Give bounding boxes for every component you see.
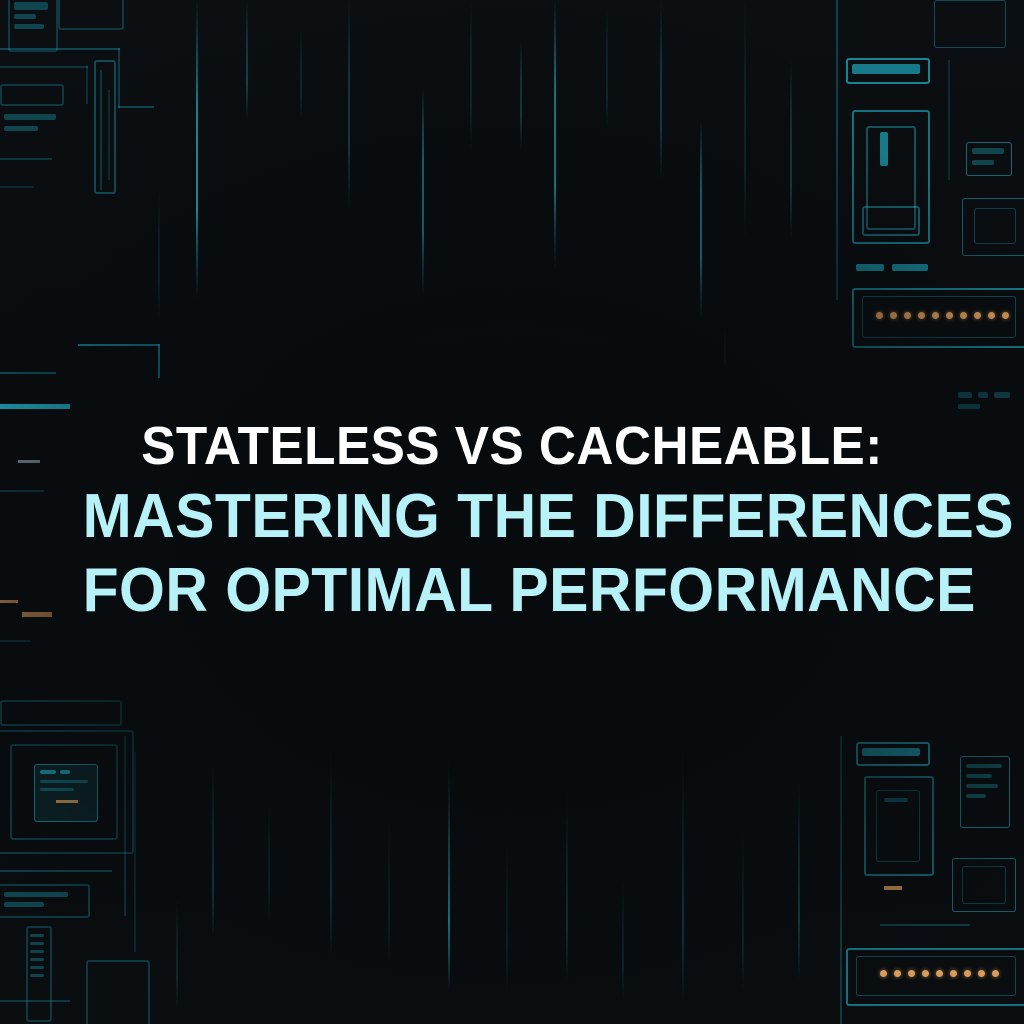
circuit-box <box>86 960 150 1024</box>
data-stream <box>742 830 744 990</box>
connector-pad <box>918 312 925 319</box>
data-stream <box>566 790 568 980</box>
circuit-chip <box>966 764 1002 768</box>
data-stream <box>606 10 608 130</box>
circuit-chip <box>966 794 986 798</box>
circuit-trace <box>118 106 154 108</box>
title-line-1: STATELESS VS CACHEABLE: <box>83 416 942 476</box>
connector-pad <box>908 970 915 977</box>
circuit-trace <box>880 924 970 926</box>
circuit-box <box>0 84 64 106</box>
circuit-chip <box>4 902 44 907</box>
connector-pad <box>946 312 953 319</box>
data-stream <box>744 0 746 240</box>
circuit-trace <box>0 404 70 409</box>
data-stream <box>422 88 424 298</box>
circuit-trace <box>0 1000 70 1002</box>
connector-pad <box>1002 312 1009 319</box>
circuit-trace <box>86 66 88 104</box>
connector-pad <box>904 312 911 319</box>
circuit-chip <box>30 934 44 937</box>
circuit-chip <box>856 264 884 271</box>
banner-canvas: STATELESS VS CACHEABLE: MASTERING THE DI… <box>0 0 1024 1024</box>
circuit-trace <box>78 344 160 346</box>
circuit-box <box>962 866 1006 904</box>
connector-pad <box>964 970 971 977</box>
data-stream <box>300 30 302 120</box>
connector-pad <box>978 970 985 977</box>
circuit-box <box>94 60 116 194</box>
title-line-2: MASTERING THE DIFFERENCES <box>83 482 942 551</box>
circuit-chip <box>14 14 36 19</box>
data-stream <box>348 0 350 210</box>
connector-strip-inner <box>856 956 1016 996</box>
circuit-chip <box>14 2 48 10</box>
data-stream <box>246 0 248 120</box>
data-stream <box>448 760 450 990</box>
circuit-trace <box>0 186 34 188</box>
connector-pad <box>932 312 939 319</box>
circuit-box <box>934 0 1006 48</box>
data-stream <box>790 60 792 240</box>
circuit-chip <box>30 974 44 977</box>
connector-pad <box>950 970 957 977</box>
connector-pad <box>974 312 981 319</box>
circuit-chip <box>978 392 988 398</box>
circuit-chip <box>972 160 994 165</box>
data-stream <box>660 0 662 180</box>
data-stream <box>176 900 178 1010</box>
circuit-chip <box>852 64 920 74</box>
data-stream <box>330 746 332 956</box>
circuit-chip <box>30 942 44 945</box>
circuit-chip <box>972 148 1004 154</box>
circuit-box <box>862 206 920 236</box>
data-stream <box>724 330 726 370</box>
connector-pad <box>960 312 967 319</box>
data-stream <box>798 780 800 980</box>
data-stream <box>506 840 508 990</box>
circuit-trace-amber <box>884 886 902 890</box>
connector-pad <box>922 970 929 977</box>
circuit-chip <box>966 784 998 788</box>
data-stream <box>554 0 556 270</box>
circuit-trace <box>0 158 52 160</box>
data-stream <box>700 120 702 320</box>
circuit-chip <box>40 770 56 774</box>
circuit-trace <box>836 0 838 300</box>
connector-pad <box>876 312 883 319</box>
circuit-box <box>974 208 1016 244</box>
data-stream <box>470 0 472 150</box>
circuit-chip <box>40 788 74 791</box>
circuit-trace <box>118 48 120 108</box>
circuit-chip <box>958 392 972 398</box>
circuit-chip <box>14 24 44 29</box>
circuit-trace <box>0 372 56 374</box>
data-stream <box>212 760 214 940</box>
connector-pad <box>894 970 901 977</box>
connector-pad <box>880 970 887 977</box>
circuit-chip <box>40 780 88 783</box>
circuit-chip <box>4 126 38 131</box>
title-block: STATELESS VS CACHEABLE: MASTERING THE DI… <box>0 416 1024 625</box>
circuit-chip <box>880 132 888 166</box>
circuit-trace <box>840 736 842 1024</box>
circuit-chip <box>60 770 70 774</box>
data-stream <box>158 190 160 320</box>
data-stream <box>520 40 522 150</box>
circuit-trace <box>0 870 112 872</box>
circuit-chip <box>30 966 44 969</box>
circuit-trace <box>0 66 88 68</box>
circuit-chip <box>958 404 980 409</box>
connector-pad <box>988 312 995 319</box>
circuit-trace <box>0 48 120 50</box>
circuit-trace-amber <box>56 800 78 803</box>
data-stream <box>622 880 624 1000</box>
circuit-chip <box>4 114 56 120</box>
circuit-chip <box>862 748 920 756</box>
circuit-chip <box>4 892 68 897</box>
connector-pad <box>936 970 943 977</box>
circuit-trace <box>158 344 160 378</box>
data-stream <box>196 0 198 300</box>
circuit-box <box>0 700 122 726</box>
title-line-3: FOR OPTIMAL PERFORMANCE <box>83 556 942 625</box>
circuit-chip <box>30 958 44 961</box>
circuit-chip <box>892 264 928 271</box>
circuit-trace <box>0 640 30 642</box>
circuit-trace <box>134 752 136 952</box>
data-stream <box>682 750 684 1000</box>
circuit-trace <box>948 60 950 180</box>
circuit-box <box>58 0 124 30</box>
circuit-chip <box>994 392 1010 398</box>
circuit-trace <box>124 736 126 916</box>
data-stream <box>268 800 270 920</box>
circuit-chip <box>966 774 992 778</box>
connector-pad <box>992 970 999 977</box>
circuit-chip <box>884 798 908 802</box>
circuit-chip <box>30 950 44 953</box>
data-stream <box>388 820 390 960</box>
circuit-box <box>0 884 90 918</box>
connector-pad <box>890 312 897 319</box>
